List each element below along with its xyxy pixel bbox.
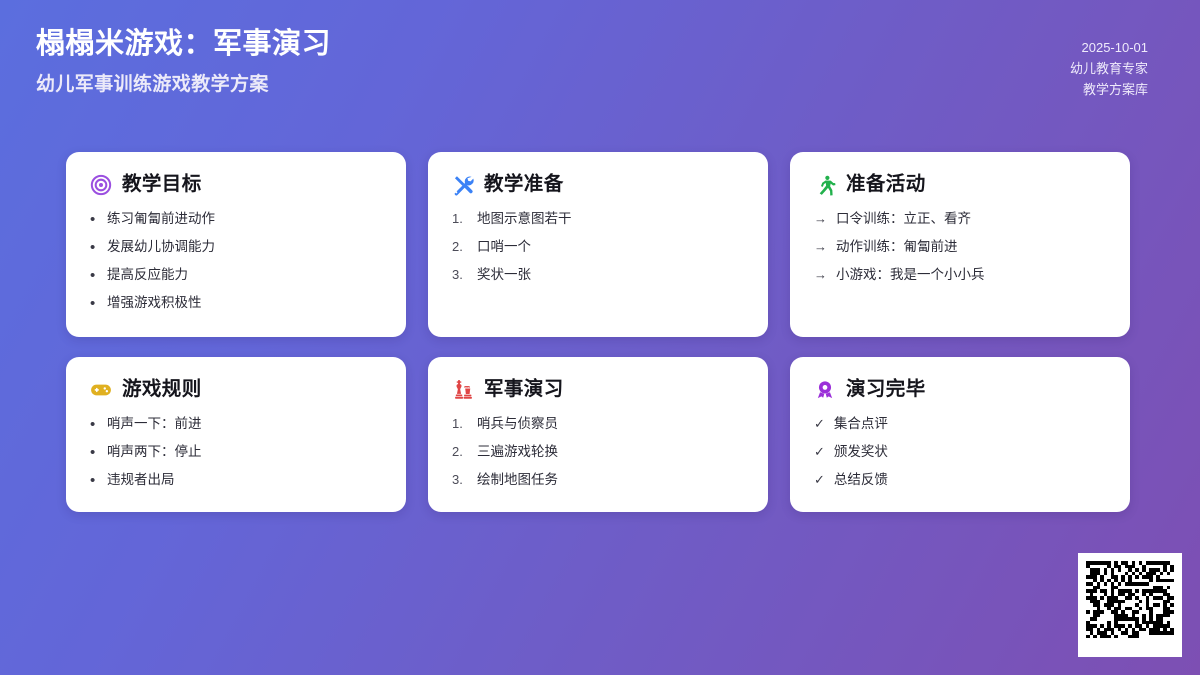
list-marker: 1. [452, 211, 468, 227]
card-title: 军事演习 [484, 380, 564, 400]
content-card: 游戏规则•哨声一下：前进•哨声两下：停止•违规者出局 [66, 357, 406, 512]
content-card: 教学目标•练习匍匐前进动作•发展幼儿协调能力•提高反应能力•增强游戏积极性 [66, 152, 406, 337]
list-marker: • [90, 212, 98, 227]
list-item-text: 集合点评 [834, 416, 888, 433]
list-item-text: 哨兵与侦察员 [477, 416, 558, 433]
list-item: ✓集合点评 [814, 416, 1106, 433]
list-marker: • [90, 240, 98, 255]
list-item-text: 口哨一个 [477, 239, 531, 256]
list-item-text: 三遍游戏轮换 [477, 444, 558, 461]
list-item-text: 提高反应能力 [107, 267, 188, 284]
chess-pieces-icon [452, 379, 474, 401]
header-meta-block: 2025-10-01 幼儿教育专家 教学方案库 [1070, 26, 1148, 100]
list-item: →小游戏：我是一个小小兵 [814, 267, 1106, 284]
list-item: •发展幼儿协调能力 [90, 239, 382, 256]
card-header: 军事演习 [452, 379, 744, 401]
list-item: 3.绘制地图任务 [452, 472, 744, 489]
list-item-text: 哨声一下：前进 [107, 416, 202, 433]
card-title: 演习完毕 [846, 380, 926, 400]
card-list: •练习匍匐前进动作•发展幼儿协调能力•提高反应能力•增强游戏积极性 [90, 211, 382, 312]
list-marker: → [814, 239, 827, 255]
list-marker: • [90, 268, 98, 283]
list-item-text: 增强游戏积极性 [107, 295, 202, 312]
list-item: →口令训练：立正、看齐 [814, 211, 1106, 228]
list-item-text: 违规者出局 [107, 472, 175, 489]
page-subtitle: 幼儿军事训练游戏教学方案 [36, 73, 331, 98]
list-item: 2.三遍游戏轮换 [452, 444, 744, 461]
header-left-block: 榻榻米游戏：军事演习 幼儿军事训练游戏教学方案 [36, 26, 331, 97]
list-item-text: 哨声两下：停止 [107, 444, 202, 461]
card-list: •哨声一下：前进•哨声两下：停止•违规者出局 [90, 416, 382, 489]
card-title: 准备活动 [846, 175, 926, 195]
list-item-text: 绘制地图任务 [477, 472, 558, 489]
card-header: 准备活动 [814, 174, 1106, 196]
qr-code[interactable] [1086, 561, 1174, 649]
list-marker: 2. [452, 239, 468, 255]
content-card: 教学准备1.地图示意图若干2.口哨一个3.奖状一张 [428, 152, 768, 337]
header-date: 2025-10-01 [1070, 37, 1148, 58]
list-marker: • [90, 445, 98, 460]
card-header: 演习完毕 [814, 379, 1106, 401]
card-header: 游戏规则 [90, 379, 382, 401]
card-grid: 教学目标•练习匍匐前进动作•发展幼儿协调能力•提高反应能力•增强游戏积极性教学准… [66, 152, 1140, 542]
list-item: 1.哨兵与侦察员 [452, 416, 744, 433]
target-icon [90, 174, 112, 196]
card-list: 1.地图示意图若干2.口哨一个3.奖状一张 [452, 211, 744, 284]
list-item: •练习匍匐前进动作 [90, 211, 382, 228]
running-person-icon [814, 174, 836, 196]
list-item-text: 动作训练：匍匐前进 [836, 239, 958, 256]
list-item: •哨声一下：前进 [90, 416, 382, 433]
list-marker: • [90, 473, 98, 488]
list-marker: • [90, 296, 98, 311]
list-item-text: 奖状一张 [477, 267, 531, 284]
list-item-text: 总结反馈 [834, 472, 888, 489]
list-item: •提高反应能力 [90, 267, 382, 284]
list-item: 3.奖状一张 [452, 267, 744, 284]
list-item-text: 口令训练：立正、看齐 [836, 211, 971, 228]
list-marker: 1. [452, 416, 468, 432]
header-source: 教学方案库 [1070, 79, 1148, 100]
slide-header: 榻榻米游戏：军事演习 幼儿军事训练游戏教学方案 2025-10-01 幼儿教育专… [0, 0, 1200, 130]
list-item-text: 小游戏：我是一个小小兵 [836, 267, 985, 284]
list-item: 1.地图示意图若干 [452, 211, 744, 228]
content-card: 演习完毕✓集合点评✓颁发奖状✓总结反馈 [790, 357, 1130, 512]
gamepad-icon [90, 379, 112, 401]
list-item: →动作训练：匍匐前进 [814, 239, 1106, 256]
list-item: ✓颁发奖状 [814, 444, 1106, 461]
list-item: ✓总结反馈 [814, 472, 1106, 489]
list-marker: • [90, 417, 98, 432]
list-item-text: 练习匍匐前进动作 [107, 211, 215, 228]
content-card: 准备活动→口令训练：立正、看齐→动作训练：匍匐前进→小游戏：我是一个小小兵 [790, 152, 1130, 337]
list-marker: ✓ [814, 472, 825, 488]
tools-icon [452, 174, 474, 196]
card-header: 教学目标 [90, 174, 382, 196]
list-item: 2.口哨一个 [452, 239, 744, 256]
list-marker: ✓ [814, 416, 825, 432]
list-marker: 3. [452, 472, 468, 488]
slide-root: 榻榻米游戏：军事演习 幼儿军事训练游戏教学方案 2025-10-01 幼儿教育专… [0, 0, 1200, 675]
list-marker: → [814, 267, 827, 283]
list-item-text: 颁发奖状 [834, 444, 888, 461]
card-title: 教学目标 [122, 175, 202, 195]
list-marker: 3. [452, 267, 468, 283]
list-item: •违规者出局 [90, 472, 382, 489]
card-list: ✓集合点评✓颁发奖状✓总结反馈 [814, 416, 1106, 489]
list-marker: → [814, 211, 827, 227]
card-list: 1.哨兵与侦察员2.三遍游戏轮换3.绘制地图任务 [452, 416, 744, 489]
list-item-text: 地图示意图若干 [477, 211, 572, 228]
list-item-text: 发展幼儿协调能力 [107, 239, 215, 256]
list-item: •增强游戏积极性 [90, 295, 382, 312]
qr-code-container[interactable] [1078, 553, 1182, 657]
card-header: 教学准备 [452, 174, 744, 196]
card-title: 教学准备 [484, 175, 564, 195]
card-title: 游戏规则 [122, 380, 202, 400]
card-list: →口令训练：立正、看齐→动作训练：匍匐前进→小游戏：我是一个小小兵 [814, 211, 1106, 284]
medal-icon [814, 379, 836, 401]
page-title: 榻榻米游戏：军事演习 [36, 26, 331, 64]
header-author: 幼儿教育专家 [1070, 58, 1148, 79]
list-item: •哨声两下：停止 [90, 444, 382, 461]
list-marker: 2. [452, 444, 468, 460]
list-marker: ✓ [814, 444, 825, 460]
content-card: 军事演习1.哨兵与侦察员2.三遍游戏轮换3.绘制地图任务 [428, 357, 768, 512]
